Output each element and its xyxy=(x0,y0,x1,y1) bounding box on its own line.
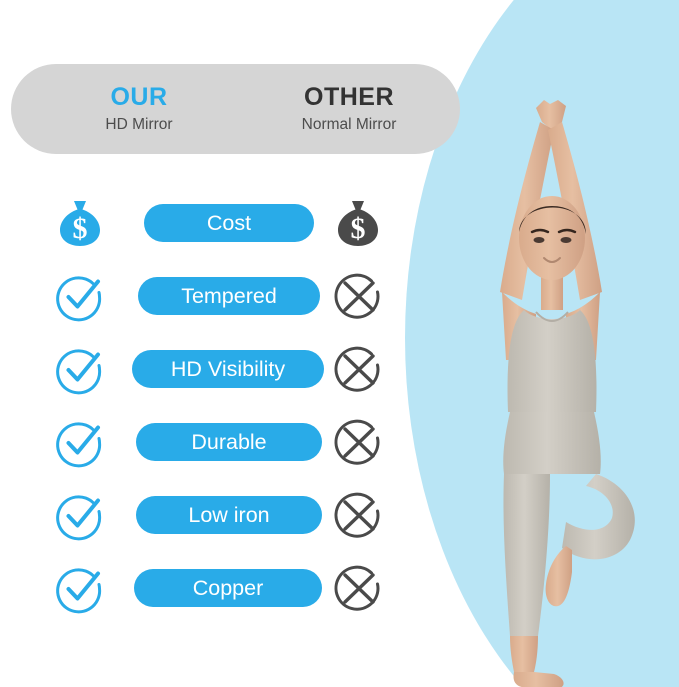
x-circle-icon xyxy=(330,268,386,324)
comparison-header-bar: OUR HD Mirror OTHER Normal Mirror xyxy=(11,64,460,154)
check-circle-icon xyxy=(52,414,108,470)
header-our-title: OUR xyxy=(39,82,239,112)
header-other-subtitle: Normal Mirror xyxy=(249,114,449,136)
check-circle-icon xyxy=(52,341,108,397)
check-circle-icon xyxy=(52,560,108,616)
feature-pill[interactable]: HD Visibility xyxy=(132,350,324,388)
woman-yoga-tree-pose-photo xyxy=(440,60,679,687)
comparison-row: Copper xyxy=(0,551,420,624)
x-circle-icon xyxy=(330,341,386,397)
comparison-rows: $ Cost $ Tempered xyxy=(0,186,420,624)
header-column-our: OUR HD Mirror xyxy=(39,82,239,136)
x-circle-icon xyxy=(330,560,386,616)
comparison-row: Durable xyxy=(0,405,420,478)
feature-pill[interactable]: Cost xyxy=(144,204,314,242)
check-circle-icon xyxy=(52,268,108,324)
feature-pill[interactable]: Durable xyxy=(136,423,322,461)
money-bag-icon: $ xyxy=(52,195,108,251)
check-circle-icon xyxy=(52,487,108,543)
header-column-other: OTHER Normal Mirror xyxy=(249,82,449,136)
comparison-row: Tempered xyxy=(0,259,420,332)
feature-pill[interactable]: Copper xyxy=(134,569,322,607)
x-circle-icon xyxy=(330,487,386,543)
comparison-row: $ Cost $ xyxy=(0,186,420,259)
feature-pill[interactable]: Low iron xyxy=(136,496,322,534)
svg-text:$: $ xyxy=(73,212,88,245)
header-other-title: OTHER xyxy=(249,82,449,112)
infographic-canvas: OUR HD Mirror OTHER Normal Mirror $ Cost… xyxy=(0,0,679,687)
header-our-subtitle: HD Mirror xyxy=(39,114,239,136)
x-circle-icon xyxy=(330,414,386,470)
comparison-row: Low iron xyxy=(0,478,420,551)
feature-pill[interactable]: Tempered xyxy=(138,277,320,315)
svg-text:$: $ xyxy=(351,212,366,245)
comparison-row: HD Visibility xyxy=(0,332,420,405)
money-bag-icon: $ xyxy=(330,195,386,251)
